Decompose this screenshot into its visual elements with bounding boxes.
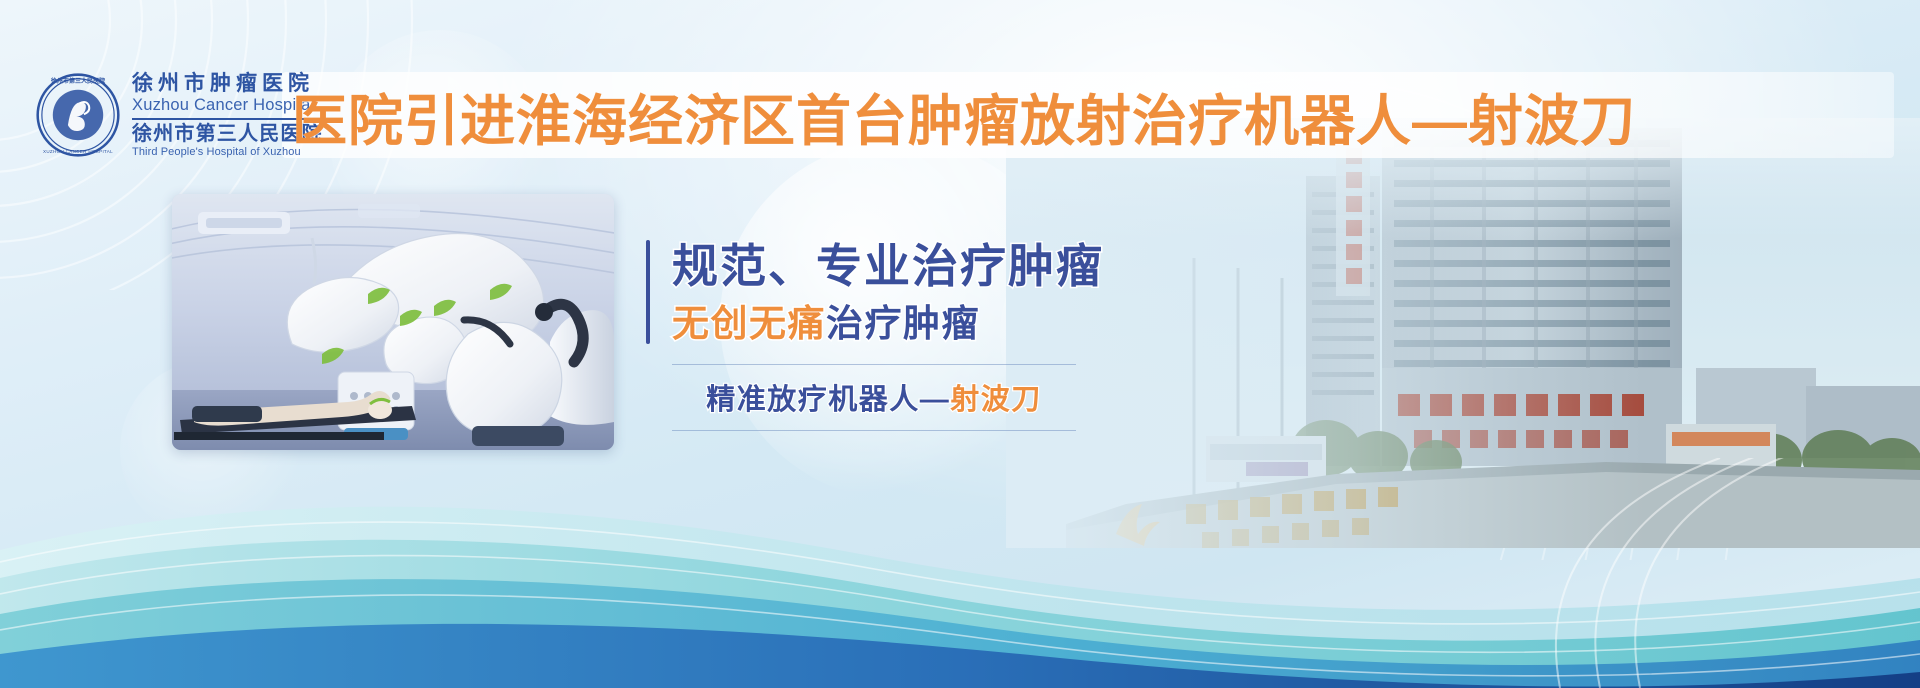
cyberknife-robot-photo xyxy=(172,194,614,450)
copy-line-2-rest: 治疗肿瘤 xyxy=(826,303,980,344)
copy-line-3-prefix: 精准放疗机器人— xyxy=(706,384,950,416)
copy-line-3-highlight: 射波刀 xyxy=(950,384,1042,416)
copy-line-2-highlight: 无创无痛 xyxy=(672,303,826,344)
svg-text:XUZHOU CANCER HOSPITAL: XUZHOU CANCER HOSPITAL xyxy=(43,149,113,154)
copy-line-3-frame: 精准放疗机器人—射波刀 xyxy=(672,364,1076,431)
copy-line-2: 无创无痛治疗肿瘤 xyxy=(672,298,1104,351)
hospital-logo: 徐州市第三人民医院 XUZHOU CANCER HOSPITAL 徐州市肿瘤医院… xyxy=(36,70,323,160)
decorative-wave-ribbons xyxy=(0,458,1920,688)
hospital-seal-icon: 徐州市第三人民医院 XUZHOU CANCER HOSPITAL xyxy=(36,73,120,157)
banner-copy-block: 规范、专业治疗肿瘤 无创无痛治疗肿瘤 精准放疗机器人—射波刀 xyxy=(646,236,1116,431)
banner-headline: 医院引进淮海经济区首台肿瘤放射治疗机器人—射波刀 xyxy=(292,80,1892,152)
svg-text:徐州市第三人民医院: 徐州市第三人民医院 xyxy=(50,77,105,85)
copy-accent-bar xyxy=(646,240,650,344)
copy-line-1: 规范、专业治疗肿瘤 xyxy=(672,236,1104,298)
copy-line-3: 精准放疗机器人—射波刀 xyxy=(706,376,1042,418)
hospital-promo-banner: 徐州市第三人民医院 XUZHOU CANCER HOSPITAL 徐州市肿瘤医院… xyxy=(0,0,1920,688)
